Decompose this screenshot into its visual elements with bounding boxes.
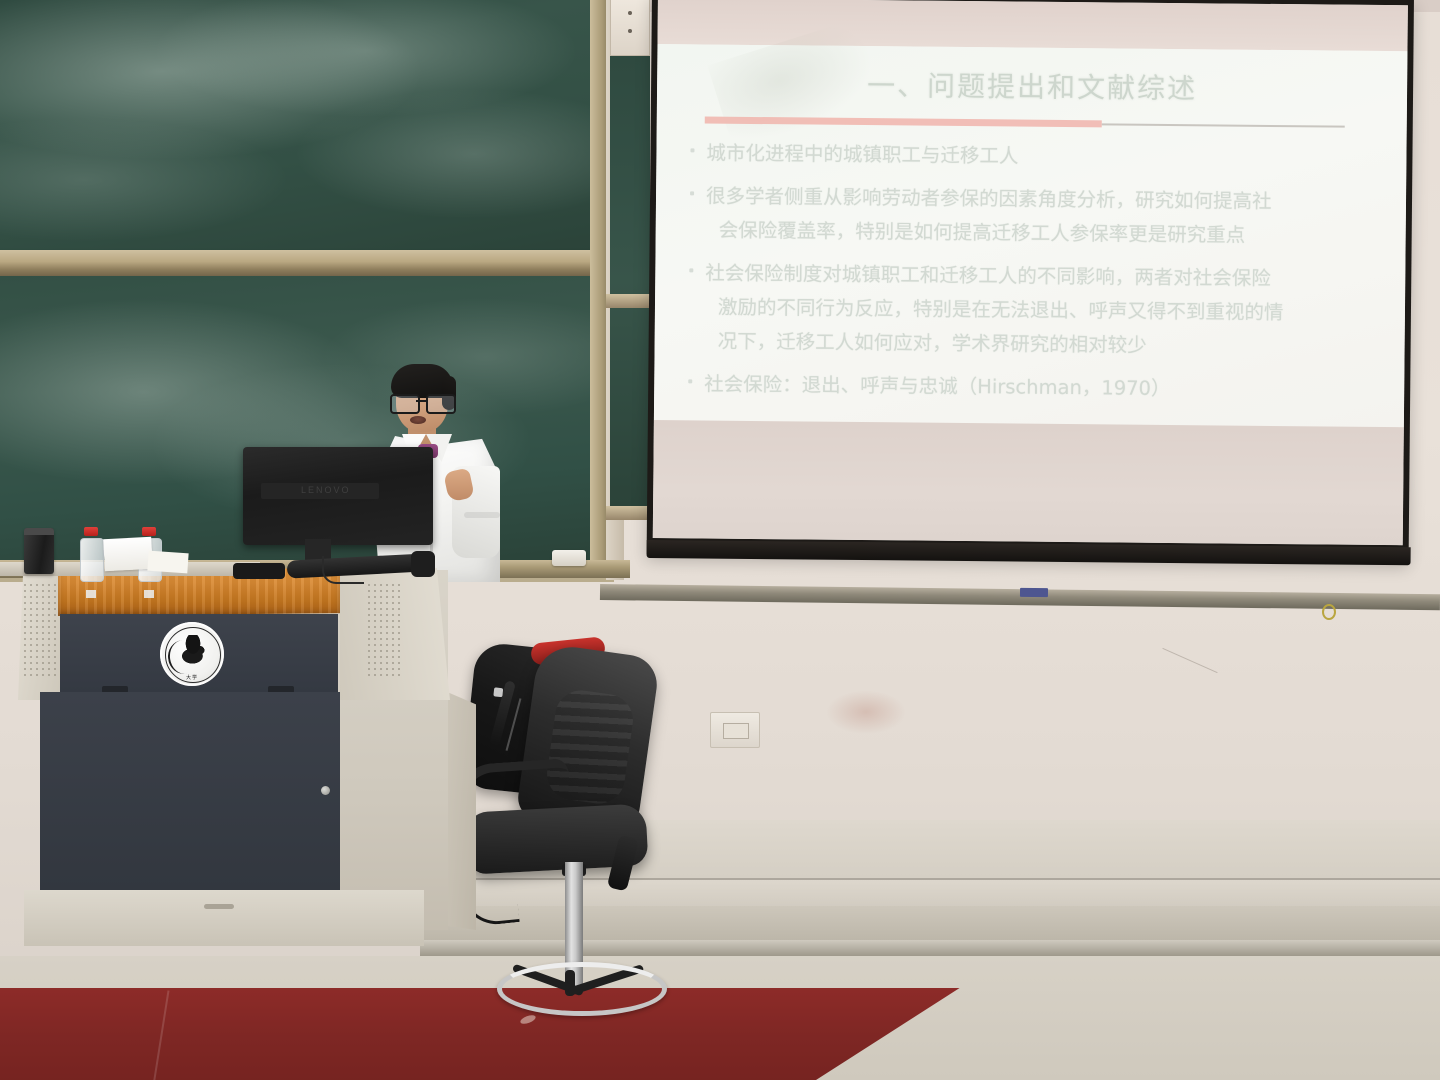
projection-screen: 一、问题提出和文献综述 城市化进程中的城镇职工与迁移工人 很多学者侧重从影响劳动… xyxy=(647,0,1414,561)
screen-dead-band-top xyxy=(658,0,1408,51)
emblem-figure xyxy=(178,635,208,669)
podium-cabinet-door[interactable] xyxy=(40,692,340,890)
projection-screen-surface: 一、问题提出和文献综述 城市化进程中的城镇职工与迁移工人 很多学者侧重从影响劳动… xyxy=(653,0,1408,545)
university-emblem-icon: 大学 xyxy=(160,622,224,686)
bottle-neck xyxy=(144,590,154,598)
blackboard-middle-rail xyxy=(0,250,606,278)
thermos-cup xyxy=(24,528,54,574)
bullet-dot-icon xyxy=(688,379,692,383)
bottle-neck xyxy=(86,590,96,598)
wall-hook-icon xyxy=(1322,604,1336,620)
glasses-lens-right xyxy=(426,394,456,414)
wall-stain xyxy=(826,690,906,734)
wall-power-socket xyxy=(710,712,760,748)
podium-speaker-grille-left xyxy=(22,582,58,678)
blackboard-column-rail xyxy=(606,294,654,308)
divider-thin-line xyxy=(1102,123,1345,127)
slide-bullet-list: 城市化进程中的城镇职工与迁移工人 很多学者侧重从影响劳动者参保的因素角度分析，研… xyxy=(684,136,1387,417)
bottle-body xyxy=(80,538,104,582)
wall-mount-plate xyxy=(610,0,650,56)
podium-drawer-handle[interactable] xyxy=(204,904,234,909)
list-item: 城市化进程中的城镇职工与迁移工人 xyxy=(686,136,1386,177)
emblem-text: 大学 xyxy=(160,674,224,681)
bullet-dot-icon xyxy=(689,268,693,272)
list-item: 社会保险制度对城镇职工和迁移工人的不同影响，两者对社会保险 激励的不同行为反应，… xyxy=(684,256,1385,365)
presenter-mouth xyxy=(410,416,426,424)
blackboard-eraser xyxy=(552,550,586,566)
bullet-line: 会保险覆盖率，特别是如何提高迁移工人参保率更是研究重点 xyxy=(706,214,1386,255)
bottle-cap xyxy=(84,527,98,536)
water-bottle xyxy=(80,528,102,582)
lectern-podium: 大学 xyxy=(18,560,496,980)
rail-blue-clip xyxy=(1020,588,1048,597)
list-item: 社会保险：退出、呼声与忠诚（Hirschman，1970） xyxy=(684,367,1384,408)
glasses-lens-left xyxy=(390,394,420,414)
chair-footrest-ring xyxy=(497,962,667,1016)
blackboard-side-column xyxy=(610,56,650,506)
monitor-foot xyxy=(233,563,285,579)
paper-sheet xyxy=(147,551,188,574)
bullet-line: 社会保险：退出、呼声与忠诚（Hirschman，1970） xyxy=(704,368,1384,409)
screen-dead-band-bottom xyxy=(653,420,1404,545)
presenter-sleeve-edge xyxy=(464,512,500,518)
bullet-line: 城市化进程中的城镇职工与迁移工人 xyxy=(706,137,1386,178)
list-item: 很多学者侧重从影响劳动者参保的因素角度分析，研究如何提高社 会保险覆盖率，特别是… xyxy=(686,179,1387,254)
podium-speaker-grille-right xyxy=(366,582,402,678)
slide-title: 一、问题提出和文献综述 xyxy=(657,62,1407,109)
paper-sheet xyxy=(103,537,153,571)
glasses-icon xyxy=(390,394,456,410)
monitor-panel-back: LENOVO xyxy=(243,447,433,545)
bottle-cap xyxy=(142,527,156,536)
bullet-dot-icon xyxy=(690,148,694,152)
podium-base xyxy=(24,890,424,946)
monitor-brand-label: LENOVO xyxy=(301,485,351,495)
presentation-slide: 一、问题提出和文献综述 城市化进程中的城镇职工与迁移工人 很多学者侧重从影响劳动… xyxy=(654,44,1408,427)
bullet-line: 况下，迁移工人如何应对，学术界研究的相对较少 xyxy=(704,325,1384,366)
thermos-lid xyxy=(24,528,54,535)
podium-front-panel: 大学 xyxy=(60,614,338,692)
lecture-hall-photo: 一、问题提出和文献综述 城市化进程中的城镇职工与迁移工人 很多学者侧重从影响劳动… xyxy=(0,0,1440,1080)
blackboard-upper-panel xyxy=(0,0,594,252)
bullet-dot-icon xyxy=(690,191,694,195)
glasses-bridge xyxy=(416,400,426,402)
monitor-arm-joint xyxy=(411,551,435,577)
podium-lock-icon[interactable] xyxy=(321,786,330,795)
monitor-cable xyxy=(322,556,364,584)
